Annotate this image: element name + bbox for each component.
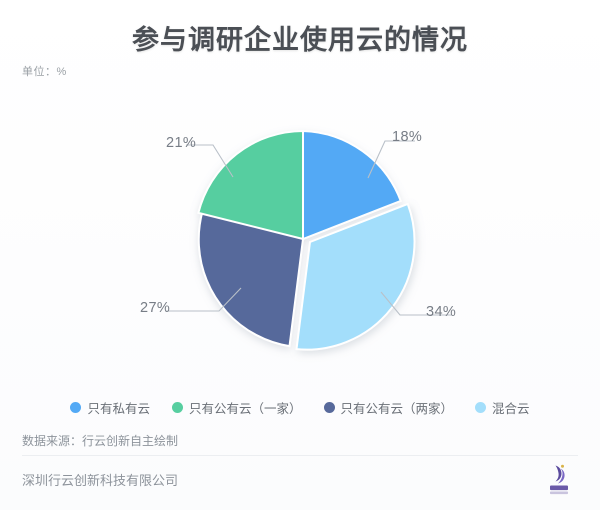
legend-item-public-cloud-two[interactable]: 只有公有云（两家） xyxy=(324,398,454,417)
legend-item-label: 混合云 xyxy=(492,398,530,417)
legend-swatch-icon xyxy=(475,402,486,413)
legend-swatch-icon xyxy=(172,402,183,413)
legend-swatch-icon xyxy=(70,402,81,413)
slice-label-public-cloud-two: 27% xyxy=(140,300,170,316)
slice-label-hybrid-cloud: 34% xyxy=(426,304,456,320)
pie-chart-svg xyxy=(0,75,600,375)
pie-chart-plot-area: 18% 21% 27% 34% xyxy=(0,75,600,375)
legend-item-hybrid-cloud[interactable]: 混合云 xyxy=(475,398,530,417)
legend-item-private-cloud[interactable]: 只有私有云 xyxy=(70,398,150,417)
footer-divider xyxy=(22,455,578,456)
xingyun-chuangxin-logo-icon xyxy=(538,463,578,497)
legend-item-public-cloud-one[interactable]: 只有公有云（一家） xyxy=(172,398,302,417)
company-name: 深圳行云创新科技有限公司 xyxy=(22,470,178,489)
slice-label-private-cloud: 18% xyxy=(392,129,422,145)
legend-item-label: 只有公有云（一家） xyxy=(189,398,302,417)
legend-item-label: 只有公有云（两家） xyxy=(341,398,454,417)
source-note: 数据来源：行云创新自主绘制 xyxy=(22,432,178,449)
page-title: 参与调研企业使用云的情况 xyxy=(0,18,600,57)
legend-item-label: 只有私有云 xyxy=(87,398,150,417)
slice-label-public-cloud-one: 21% xyxy=(166,135,196,151)
chart-legend: 只有私有云 只有公有云（一家） 只有公有云（两家） 混合云 xyxy=(0,398,600,417)
legend-swatch-icon xyxy=(324,402,335,413)
pie-chart-card: 参与调研企业使用云的情况 单位：% xyxy=(0,0,600,510)
